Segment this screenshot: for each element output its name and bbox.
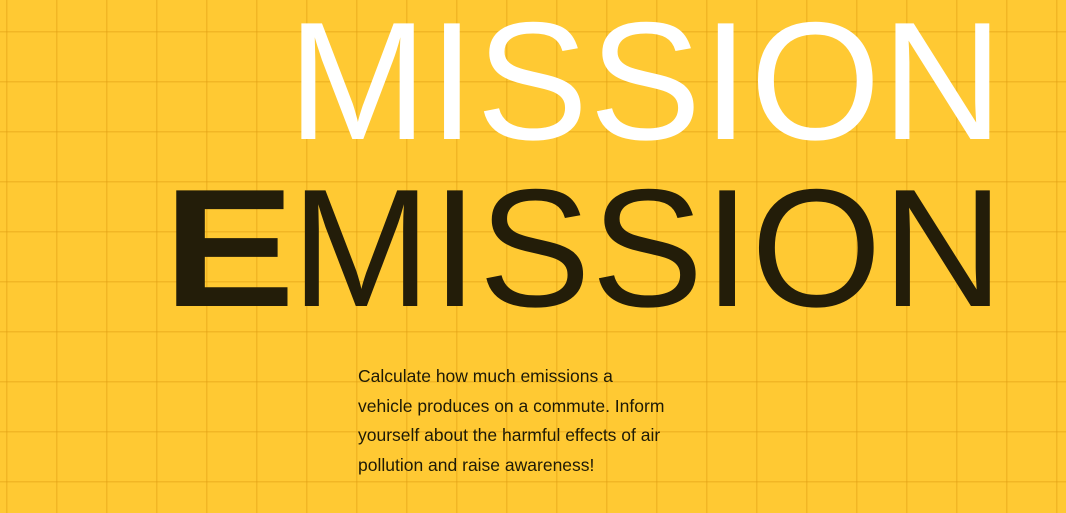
hero-page: MISSION E MISSION Calculate how much emi… [0, 0, 1066, 513]
hero-section: MISSION E MISSION Calculate how much emi… [0, 0, 1066, 513]
headline-mission-outline: MISSION [288, 0, 1004, 165]
headline-letter-e-accent: E [163, 164, 293, 332]
headline-mission-dark: MISSION [291, 164, 1004, 332]
hero-description-paragraph: Calculate how much emissions a vehicle p… [358, 362, 668, 480]
headline-emission: E MISSION [163, 164, 1004, 332]
